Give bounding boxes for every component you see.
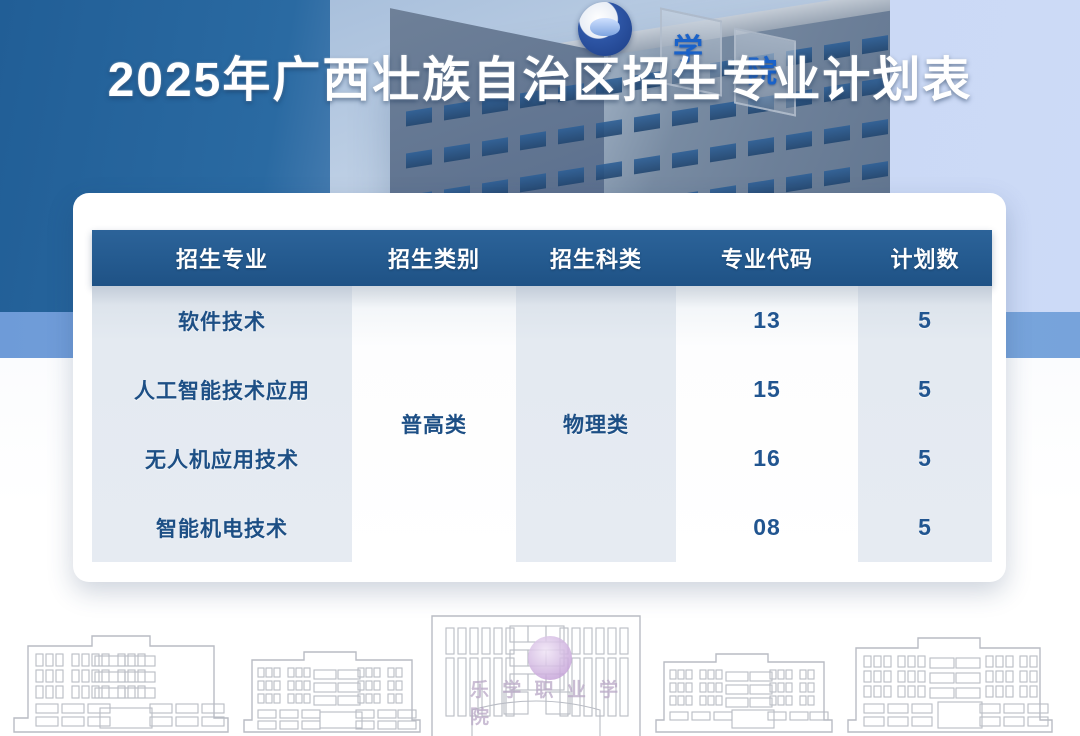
photo-building-window (786, 131, 812, 150)
cell-code-row-3: 16 (676, 424, 858, 493)
photo-building-window (862, 119, 888, 138)
cell-major-row-3: 无人机应用技术 (92, 424, 352, 493)
column-header-subject[interactable]: 招生科类 (516, 242, 676, 274)
table-header-row: 招生专业招生类别招生科类专业代码计划数 (92, 230, 992, 286)
column-header-code[interactable]: 专业代码 (676, 242, 858, 274)
photo-building-window (672, 149, 698, 168)
table-column-quota: 5555 (858, 286, 992, 562)
photo-building-window (596, 119, 622, 138)
cell-major-row-1: 软件技术 (92, 286, 352, 355)
photo-building-window (634, 155, 660, 174)
cell-quota-row-1: 5 (858, 286, 992, 355)
cell-quota-row-2: 5 (858, 355, 992, 424)
cell-quota-row-3: 5 (858, 424, 992, 493)
page-title: 2025年广西壮族自治区招生专业计划表 (0, 40, 1080, 110)
cell-quota-row-4: 5 (858, 493, 992, 562)
table-column-major: 软件技术人工智能技术应用无人机应用技术智能机电技术 (92, 286, 352, 562)
photo-building-window (710, 143, 736, 162)
table-body: 软件技术人工智能技术应用无人机应用技术智能机电技术普高类物理类131516085… (92, 286, 992, 562)
poster-root: 学 院 2025年广西壮族自治区招生专业计划表 招生专业招生类别招生科类专业代码… (0, 0, 1080, 736)
admission-plan-table: 招生专业招生类别招生科类专业代码计划数 软件技术人工智能技术应用无人机应用技术智… (92, 230, 992, 562)
photo-building-window (748, 137, 774, 156)
table-column-category: 普高类 (352, 286, 516, 562)
table-column-code: 13151608 (676, 286, 858, 562)
cell-code-row-2: 15 (676, 355, 858, 424)
column-header-category[interactable]: 招生类别 (352, 242, 516, 274)
photo-building-window (634, 113, 660, 132)
cell-major-row-2: 人工智能技术应用 (92, 355, 352, 424)
watermark-text: 乐 学 职 业 学 院 (470, 674, 640, 730)
cell-major-row-4: 智能机电技术 (92, 493, 352, 562)
cell-code-row-1: 13 (676, 286, 858, 355)
column-header-major[interactable]: 招生专业 (92, 242, 352, 274)
photo-building-window (862, 161, 888, 180)
photo-building-window (672, 107, 698, 126)
photo-building-window (786, 173, 812, 192)
photo-building-window (824, 167, 850, 186)
photo-building-window (596, 161, 622, 180)
table-column-subject: 物理类 (516, 286, 676, 562)
photo-building-window (824, 125, 850, 144)
cell-code-row-4: 08 (676, 493, 858, 562)
column-header-quota[interactable]: 计划数 (858, 242, 992, 274)
cell-category-merged: 普高类 (352, 286, 516, 562)
cell-subject-merged: 物理类 (516, 286, 676, 562)
